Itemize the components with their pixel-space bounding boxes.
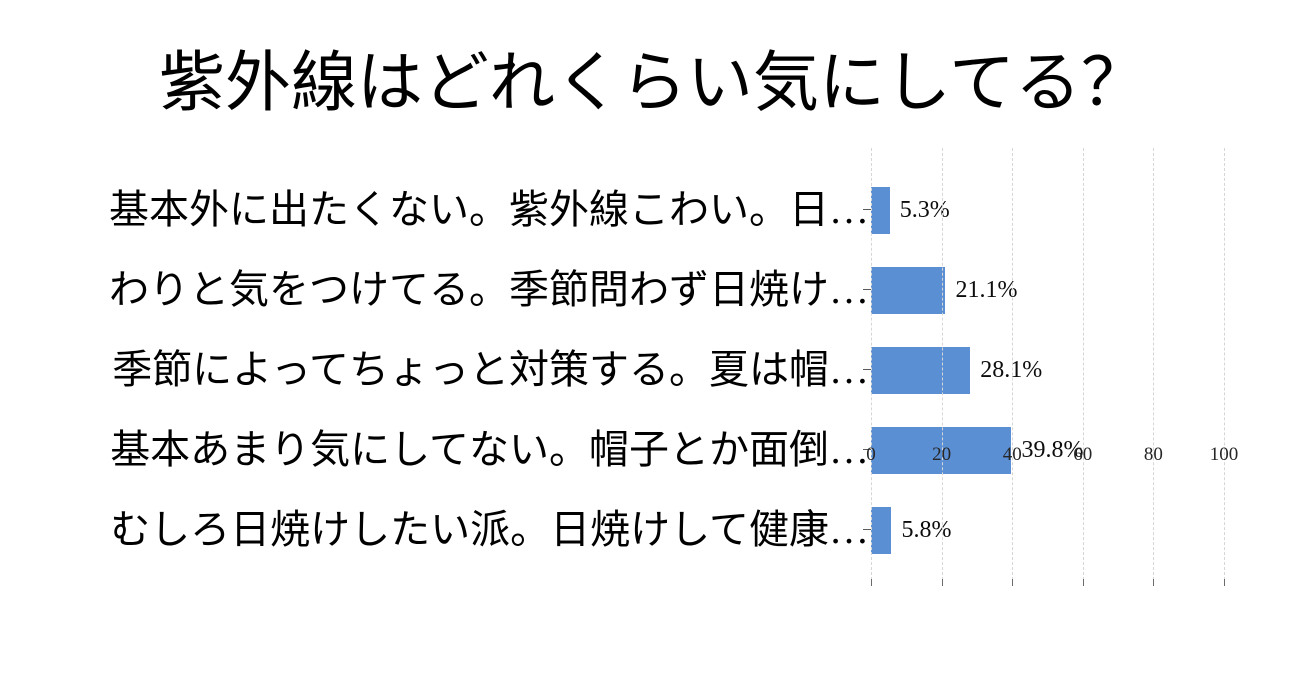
y-axis-tick (863, 529, 871, 530)
category-label: 基本あまり気にしてない。帽子とか面倒… (110, 426, 869, 474)
slide-canvas: 紫外線はどれくらい気にしてる？ 基本外に出たくない。紫外線こわい。日…5.3%わ… (0, 0, 1306, 683)
x-axis-tick-label: 60 (1073, 444, 1092, 466)
x-axis-tick-label: 40 (1003, 444, 1022, 466)
y-axis-tick (863, 289, 871, 290)
x-axis-tick-label: 100 (1210, 444, 1239, 466)
category-label: 基本外に出たくない。紫外線こわい。日… (109, 186, 869, 234)
gridline (871, 148, 872, 585)
plot-area (871, 148, 1224, 585)
x-axis-tick (1083, 579, 1084, 586)
y-axis-tick (863, 209, 871, 210)
x-axis-tick (1224, 579, 1225, 586)
x-axis-tick (1012, 579, 1013, 586)
gridline (942, 148, 943, 585)
category-label: むしろ日焼けしたい派。日焼けして健康… (110, 506, 869, 554)
gridline (1012, 148, 1013, 585)
category-label: わりと気をつけてる。季節問わず日焼け… (109, 266, 869, 314)
gridline (1153, 148, 1154, 585)
gridline (1083, 148, 1084, 585)
x-axis-tick-label: 20 (932, 444, 951, 466)
y-axis-tick (863, 369, 871, 370)
gridline (1224, 148, 1225, 585)
x-axis-tick (1153, 579, 1154, 586)
x-axis-tick (942, 579, 943, 586)
x-axis-tick (871, 579, 872, 586)
x-axis-tick-label: 80 (1144, 444, 1163, 466)
x-axis-tick-label: 0 (866, 444, 876, 466)
category-label: 季節によってちょっと対策する。夏は帽… (112, 346, 869, 394)
